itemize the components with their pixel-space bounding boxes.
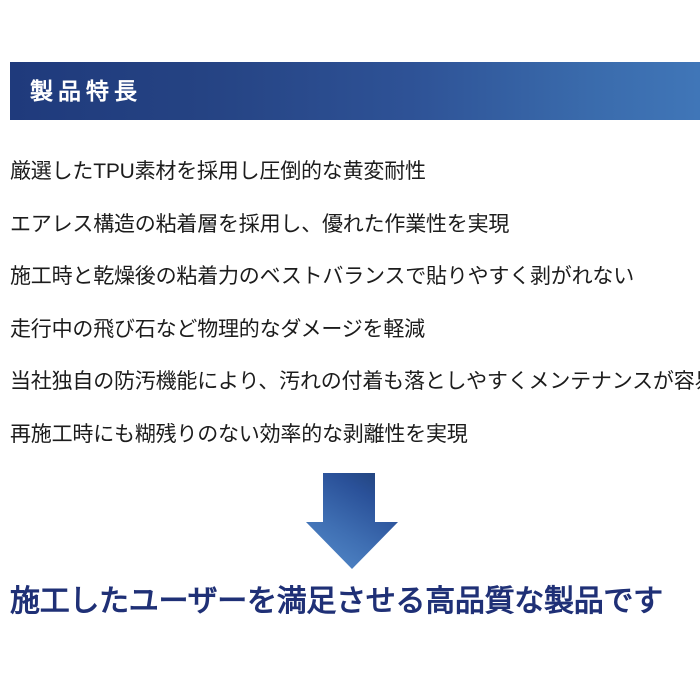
- feature-item: 走行中の飛び石など物理的なダメージを軽減: [10, 304, 700, 357]
- feature-list: 厳選したTPU素材を採用し圧倒的な黄変耐性 エアレス構造の粘着層を採用し、優れた…: [10, 146, 700, 461]
- arrow-down-icon: [303, 472, 401, 570]
- feature-item: 再施工時にも糊残りのない効率的な剥離性を実現: [10, 409, 700, 462]
- feature-item: エアレス構造の粘着層を採用し、優れた作業性を実現: [10, 199, 700, 252]
- feature-item: 当社独自の防汚機能により、汚れの付着も落としやすくメンテナンスが容易: [10, 356, 700, 409]
- section-header-banner: 製品特長: [10, 62, 700, 120]
- section-title: 製品特長: [30, 80, 142, 103]
- feature-item: 施工時と乾燥後の粘着力のベストバランスで貼りやすく剥がれない: [10, 251, 700, 304]
- closing-headline: 施工したユーザーを満足させる高品質な製品です: [10, 580, 700, 624]
- product-features-page: 製品特長 厳選したTPU素材を採用し圧倒的な黄変耐性 エアレス構造の粘着層を採用…: [0, 0, 700, 700]
- feature-item: 厳選したTPU素材を採用し圧倒的な黄変耐性: [10, 146, 700, 199]
